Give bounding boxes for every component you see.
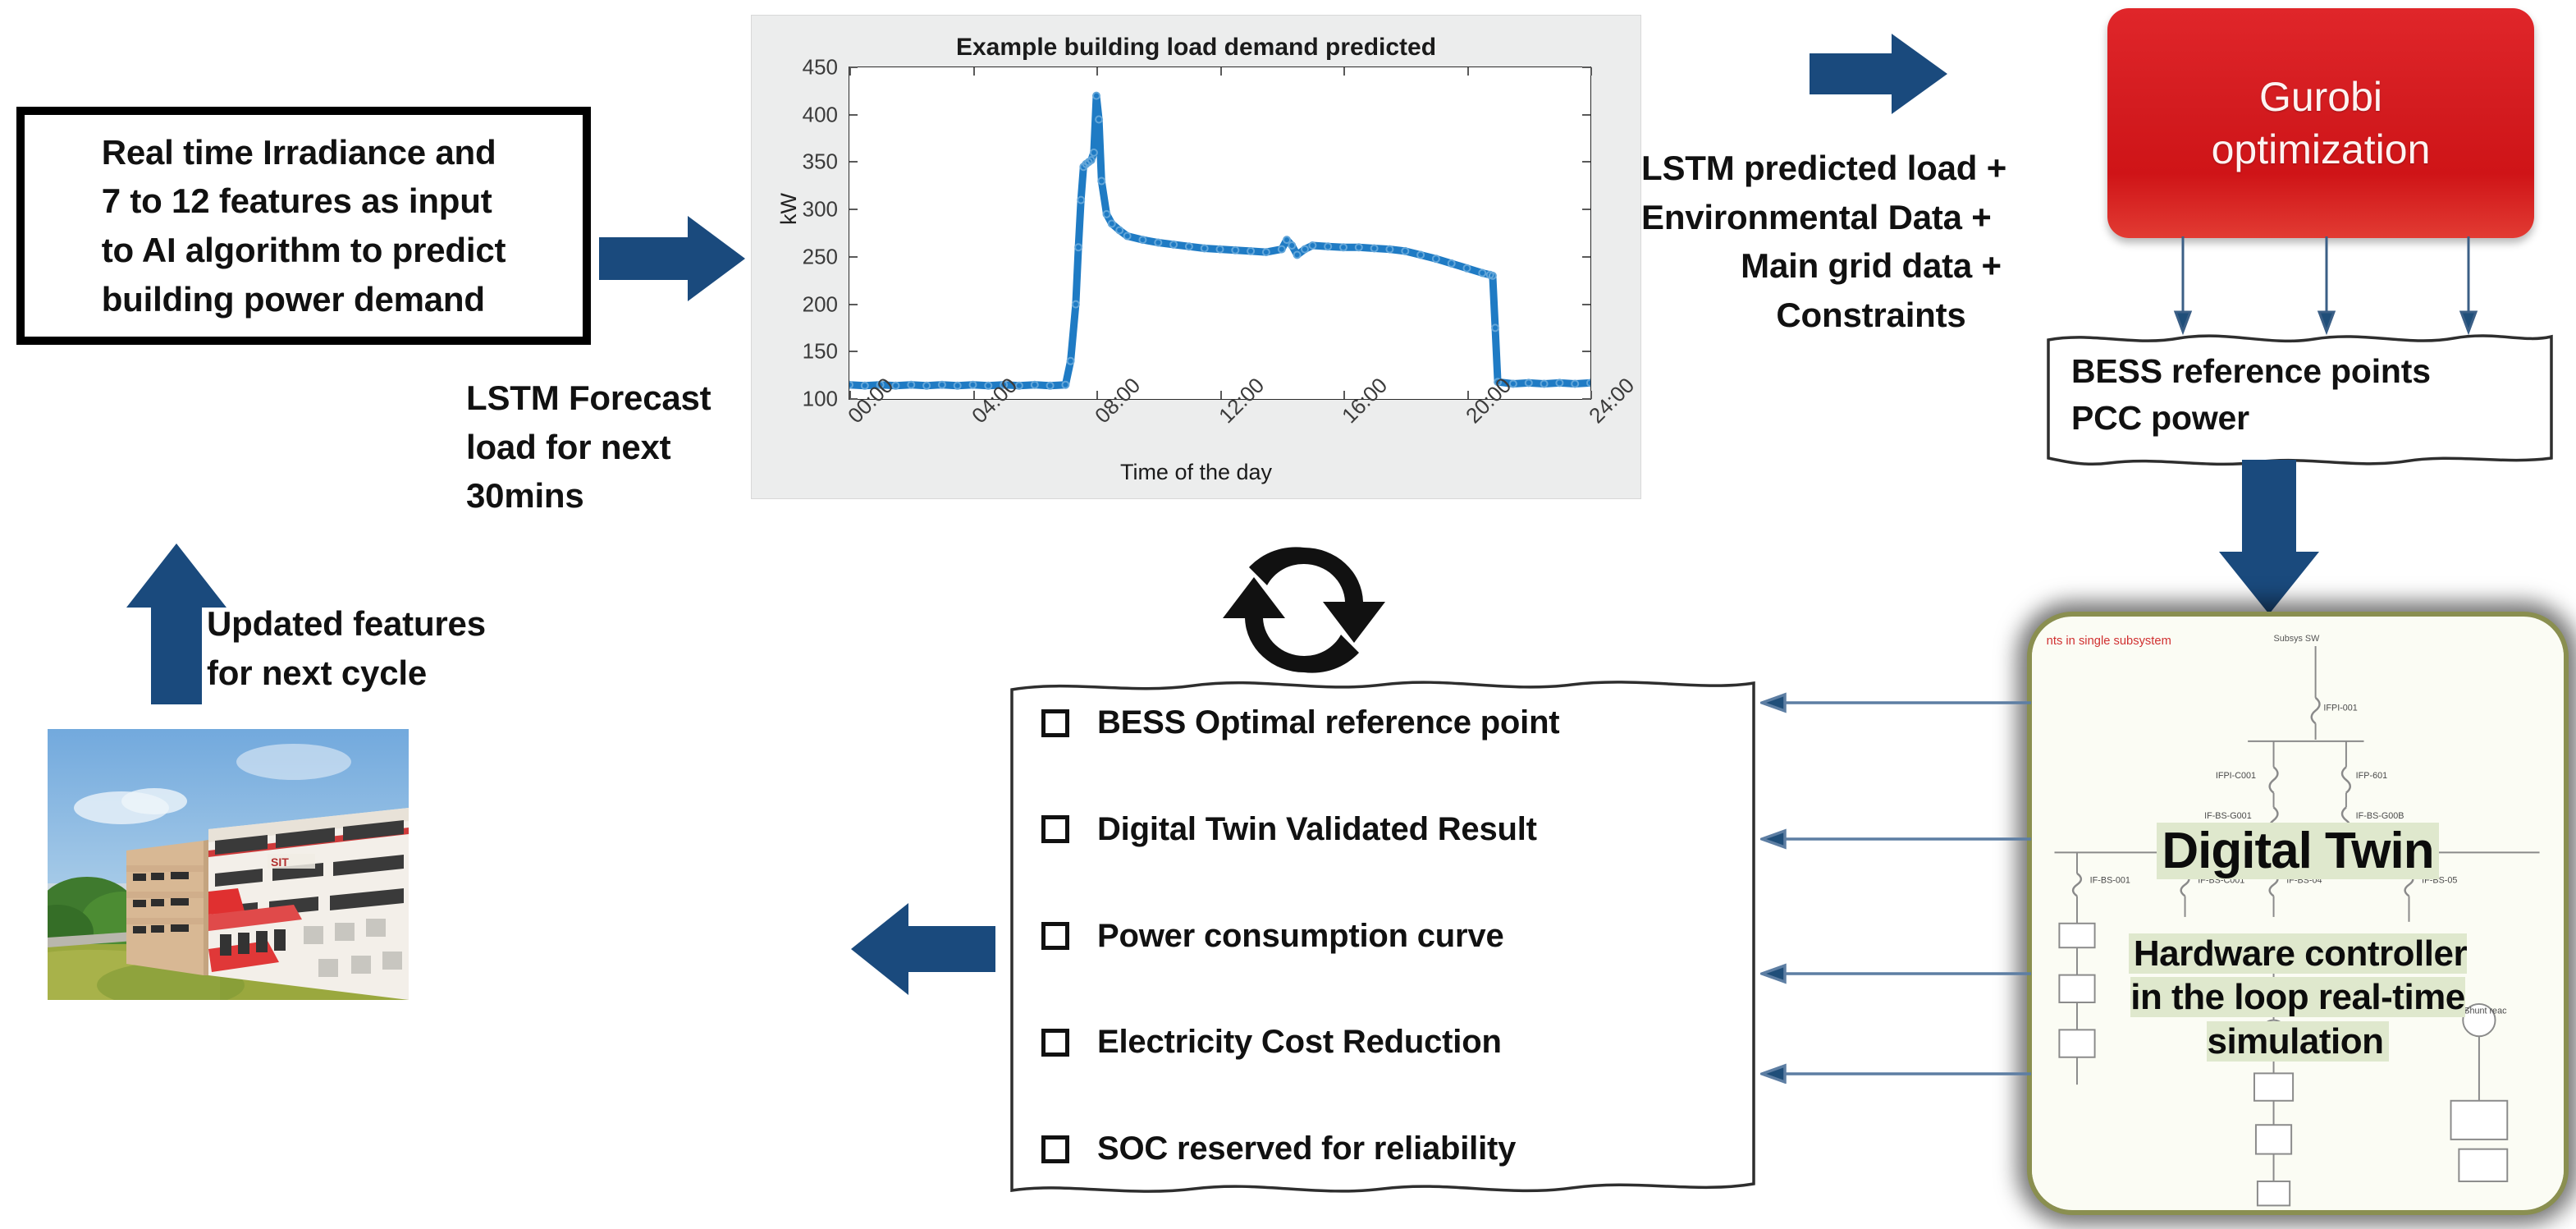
- optimizer-input-line-4: Constraints: [1641, 291, 2101, 340]
- input-description-text: Real time Irradiance and 7 to 12 feature…: [79, 128, 529, 324]
- checklist-item[interactable]: BESS Optimal reference point: [1041, 704, 1724, 741]
- chart-y-tick-label: 150: [803, 339, 849, 365]
- outputs-checklist-box: BESS Optimal reference pointDigital Twin…: [1005, 673, 1760, 1199]
- bess-reference-points-box: BESS reference points PCC power: [2043, 328, 2556, 468]
- building-photo-graphic: SIT: [48, 729, 409, 1000]
- chart-y-tick-mark: [1582, 398, 1590, 400]
- refresh-cycle-icon: [1216, 538, 1393, 681]
- chart-y-tick-label: 200: [803, 291, 849, 317]
- diagram-canvas: Real time Irradiance and 7 to 12 feature…: [0, 0, 2576, 1229]
- building-photo: SIT: [48, 729, 409, 1000]
- block-arrow-right-to-gurobi: [1810, 29, 1949, 119]
- checkbox-icon[interactable]: [1041, 1135, 1069, 1163]
- checklist-item[interactable]: Digital Twin Validated Result: [1041, 811, 1724, 848]
- chart-x-axis-label: Time of the day: [752, 460, 1640, 485]
- chart-x-tick-mark: [973, 391, 975, 399]
- chart-y-tick-label: 300: [803, 197, 849, 222]
- digital-twin-subtitle-text: Hardware controller in the loop real-tim…: [2129, 933, 2467, 1062]
- chart-y-tick-mark: [1582, 161, 1590, 163]
- checklist-item-label: SOC reserved for reliability: [1097, 1130, 1516, 1167]
- checklist-item-label: Digital Twin Validated Result: [1097, 811, 1537, 848]
- chart-y-tick-mark: [849, 114, 858, 116]
- digital-twin-title-text: Digital Twin: [2157, 823, 2438, 879]
- gurobi-label: Gurobi optimization: [2212, 71, 2431, 176]
- optimizer-input-line-1: LSTM predicted load +: [1641, 144, 2101, 193]
- chart-y-tick-label: 450: [803, 55, 849, 80]
- checkbox-icon[interactable]: [1041, 815, 1069, 843]
- chart-x-tick-mark: [1220, 391, 1222, 399]
- chart-x-tick-mark: [1096, 391, 1098, 399]
- chart-y-tick-mark: [849, 351, 858, 352]
- chart-y-tick-mark: [1582, 209, 1590, 210]
- chart-y-tick-mark: [1582, 256, 1590, 258]
- chart-y-tick-mark: [1582, 114, 1590, 116]
- chart-x-tick-mark: [849, 67, 851, 76]
- chart-x-tick-mark: [1096, 67, 1098, 76]
- chart-y-tick-label: 100: [803, 387, 849, 412]
- chart-plot-area: 100150200250300350400450 00:0004:0008:00…: [849, 66, 1591, 400]
- bess-box-content: BESS reference points PCC power: [2043, 328, 2556, 468]
- chart-y-tick-label: 250: [803, 244, 849, 269]
- digital-twin-subtitle: Hardware controller in the loop real-tim…: [2032, 887, 2564, 1064]
- chart-y-tick-mark: [1582, 351, 1590, 352]
- gurobi-to-bess-connectors: [2134, 236, 2519, 335]
- svg-text:IF-BS-G001: IF-BS-G001: [2204, 811, 2252, 821]
- chart-line-path: [849, 96, 1590, 386]
- checklist-item[interactable]: SOC reserved for reliability: [1041, 1130, 1724, 1167]
- chart-series-line: [849, 67, 1590, 399]
- checklist-item-label: Electricity Cost Reduction: [1097, 1024, 1502, 1061]
- checklist-item[interactable]: Electricity Cost Reduction: [1041, 1024, 1724, 1061]
- chart-y-axis-label: kW: [776, 193, 802, 225]
- svg-text:nts in single subsystem: nts in single subsystem: [2047, 635, 2171, 648]
- chart-y-tick-label: 400: [803, 102, 849, 127]
- chart-x-tick-mark: [1467, 67, 1469, 76]
- bess-line-1: BESS reference points: [2071, 348, 2528, 395]
- updated-features-caption: Updated features for next cycle: [207, 599, 535, 697]
- chart-y-tick-label: 350: [803, 149, 849, 175]
- checkbox-icon[interactable]: [1041, 922, 1069, 950]
- svg-text:IF-BS-G00B: IF-BS-G00B: [2356, 811, 2404, 821]
- checkbox-icon[interactable]: [1041, 709, 1069, 737]
- digital-twin-title: Digital Twin: [2032, 822, 2564, 880]
- chart-x-tick-mark: [973, 67, 975, 76]
- chart-x-tick-mark: [1590, 67, 1592, 76]
- checklist-item[interactable]: Power consumption curve: [1041, 918, 1724, 955]
- chart-y-tick-mark: [1582, 66, 1590, 68]
- chart-x-tick-mark: [1343, 67, 1345, 76]
- chart-title: Example building load demand predicted: [752, 34, 1640, 62]
- load-forecast-chart: Example building load demand predicted k…: [751, 15, 1641, 499]
- digital-twin-to-checklist-connectors: [1760, 690, 2039, 1084]
- optimizer-input-line-3: Main grid data +: [1641, 241, 2101, 291]
- chart-x-tick-mark: [849, 391, 851, 399]
- chart-y-tick-mark: [1582, 304, 1590, 305]
- lstm-forecast-caption: LSTM Forecast load for next 30mins: [466, 374, 737, 520]
- svg-text:IFPI-C001: IFPI-C001: [2216, 771, 2256, 781]
- svg-text:Subsys SW: Subsys SW: [2274, 634, 2321, 644]
- svg-text:SIT: SIT: [271, 855, 289, 869]
- chart-y-tick-mark: [849, 209, 858, 210]
- svg-text:IFPI-001: IFPI-001: [2323, 704, 2357, 713]
- optimizer-input-line-2: Environmental Data +: [1641, 193, 2101, 242]
- chart-y-tick-mark: [849, 256, 858, 258]
- chart-x-tick-mark: [1467, 391, 1469, 399]
- chart-x-tick-mark: [1343, 391, 1345, 399]
- chart-x-tick-mark: [1220, 67, 1222, 76]
- chart-x-tick-label: 24:00: [1584, 373, 1640, 429]
- block-arrow-left-to-building: [849, 895, 997, 1002]
- chart-x-tick-mark: [1590, 391, 1592, 399]
- digital-twin-panel: nts in single subsystem Subsys SW: [2027, 612, 2569, 1215]
- bess-line-2: PCC power: [2071, 395, 2528, 442]
- chart-y-tick-mark: [849, 304, 858, 305]
- block-arrow-down-to-digital-twin: [2216, 460, 2322, 616]
- checklist-item-label: BESS Optimal reference point: [1097, 704, 1559, 741]
- checkbox-icon[interactable]: [1041, 1029, 1069, 1057]
- checklist-item-label: Power consumption curve: [1097, 918, 1504, 955]
- chart-y-tick-mark: [849, 161, 858, 163]
- svg-text:IFP-601: IFP-601: [2356, 771, 2387, 781]
- block-arrow-right-to-chart: [599, 209, 747, 308]
- gurobi-optimization-box: Gurobi optimization: [2107, 8, 2534, 238]
- checklist-items: BESS Optimal reference pointDigital Twin…: [1005, 673, 1760, 1199]
- input-description-box: Real time Irradiance and 7 to 12 feature…: [16, 107, 591, 345]
- optimizer-inputs-caption: LSTM predicted load + Environmental Data…: [1641, 144, 2101, 340]
